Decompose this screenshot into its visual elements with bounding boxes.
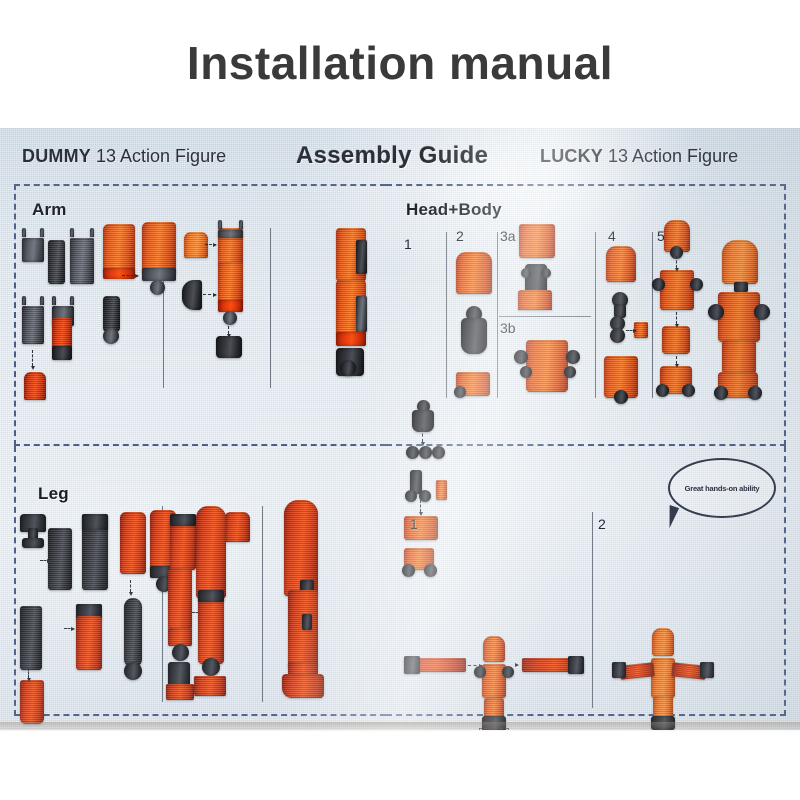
final-figure-shoulder-r	[502, 666, 514, 678]
head-step1-ball-h	[424, 564, 437, 577]
leg-col3-cap	[224, 512, 250, 542]
final-step-number-1: 1	[410, 516, 418, 532]
arm-arrow-right-1	[122, 275, 138, 276]
arm-final-hand-ball	[340, 360, 356, 376]
head-step3b-ball-b	[566, 350, 580, 364]
arm-assembly-fork	[218, 220, 243, 238]
leg-part-shin-gray-1	[20, 606, 42, 670]
head-divider-4	[652, 232, 653, 398]
leg-final-foot-2	[282, 674, 324, 698]
final2-hand-left	[612, 662, 626, 678]
head-step3a-ball-a	[521, 268, 531, 278]
head-final-waist	[722, 340, 756, 374]
section-title-head-body: Head+Body	[406, 200, 502, 220]
arm-arrow-down-1	[32, 350, 33, 366]
manual-header: DUMMY 13 Action Figure Assembly Guide LU…	[0, 142, 800, 176]
arm-assembly-ball	[223, 311, 237, 325]
header-center-title: Assembly Guide	[296, 142, 488, 170]
arm-part-upper-right-base	[142, 268, 176, 281]
leg-arrow-1	[40, 560, 50, 561]
leg-col3-shin	[168, 568, 192, 630]
header-right-title: LUCKY 13 Action Figure	[540, 146, 738, 167]
head-step2-ball-2	[454, 386, 466, 398]
head-step5-arrow-2	[676, 312, 677, 324]
leg-part-shin-red	[76, 616, 102, 670]
step-number-1: 1	[404, 236, 412, 252]
arm-part-fork-b	[70, 228, 94, 284]
section-title-leg: Leg	[38, 484, 69, 504]
head-final-ball-c	[714, 386, 728, 400]
arm-assembly-hand	[216, 336, 242, 358]
final-arm-left-hand	[404, 656, 420, 674]
arm-part-shoulder-cap	[184, 232, 208, 258]
leg-col2-shaft-ball	[124, 662, 142, 680]
arm-part-shaft-a	[48, 240, 65, 284]
arm-part-ball-joint-2	[103, 328, 119, 344]
arm-part-fork-c	[22, 296, 44, 344]
leg-part-thigh-top-2	[82, 514, 108, 530]
step-number-2: 2	[456, 228, 464, 244]
head-step5-ball-b	[652, 278, 665, 291]
head-step5-ball-e	[682, 384, 695, 397]
paper-bottom-edge	[0, 722, 800, 732]
head-step3b-ball-a	[514, 350, 528, 364]
leg-divider-2	[262, 506, 263, 702]
head-step4-ball-d	[614, 390, 628, 404]
leg-final-thigh-1	[196, 506, 226, 598]
head-step1-ball-b	[406, 446, 419, 459]
leg-part-thigh-gray-1	[48, 528, 72, 590]
screenshot-root: Installation manual DUMMY 13 Action Figu…	[0, 0, 800, 800]
head-step3b-ball-d	[564, 366, 576, 378]
head-step3b-ball-c	[520, 366, 532, 378]
manual-photo: DUMMY 13 Action Figure Assembly Guide LU…	[0, 128, 800, 730]
head-step1-arrow-2	[420, 500, 421, 512]
arm-divider-2	[270, 228, 271, 388]
head-final-neck	[734, 282, 748, 292]
head-divider-1	[446, 232, 447, 398]
head-step1-ball-c	[419, 446, 432, 459]
arm-assembly-lower	[218, 262, 243, 304]
arm-part-upper-left	[103, 224, 135, 274]
final-figure-head	[483, 636, 505, 662]
final2-torso	[651, 658, 675, 698]
leg-arrow-3	[28, 668, 29, 678]
arm-arrow-right-2	[205, 244, 216, 245]
final-figure-shoulder-l	[474, 666, 486, 678]
page-title: Installation manual	[0, 36, 800, 90]
leg-col2-shaft	[124, 598, 142, 668]
head-step5-arrow-3	[676, 356, 677, 364]
head-step3b-torso	[526, 340, 568, 392]
head-step5-arrow-1	[676, 256, 677, 268]
leg-part-foot-red	[20, 680, 44, 724]
head-divider-h	[499, 316, 591, 317]
arm-part-upper-left-base	[103, 268, 135, 279]
final-divider-1	[592, 512, 593, 708]
header-left-title: DUMMY 13 Action Figure	[22, 146, 226, 167]
step-number-3b: 3b	[500, 320, 516, 336]
head-final-ball-a	[708, 304, 724, 320]
arm-part-clip	[182, 280, 202, 310]
leg-col2-thigh-a	[120, 512, 146, 574]
arm-part-red-block	[52, 318, 72, 348]
head-step4-arrow	[626, 330, 636, 331]
arm-arrow-down-2	[228, 326, 229, 334]
head-step3a-chest	[519, 224, 555, 258]
header-left-brand: DUMMY	[22, 146, 91, 166]
arm-arrow-right-3	[203, 294, 216, 295]
head-step1-ball-d	[432, 446, 445, 459]
step-number-3a: 3a	[500, 228, 516, 244]
header-left-rest: 13 Action Figure	[91, 146, 226, 166]
leg-col3-knee-cap	[170, 514, 196, 526]
arm-part-gray-foot	[52, 346, 72, 360]
leg-part-hip-base	[22, 538, 44, 548]
leg-arrow-2	[64, 628, 74, 629]
head-step1-orange-bit	[436, 480, 447, 500]
step-number-4: 4	[608, 228, 616, 244]
arm-part-forearm-gray	[103, 296, 120, 332]
head-step1-ball-e	[405, 490, 417, 502]
arm-final-hinge-2	[356, 296, 367, 332]
arm-final-hinge	[356, 240, 367, 274]
callout-bubble: Great hands-on ability	[668, 458, 776, 518]
final-arm-right-hand	[568, 656, 584, 674]
callout-text: Great hands-on ability	[685, 484, 760, 493]
arm-part-fork-a	[22, 228, 44, 262]
arm-part-upper-right	[142, 222, 176, 274]
leg-final-knee-1	[198, 590, 224, 602]
header-right-brand: LUCKY	[540, 146, 603, 166]
leg-final-foot-1	[194, 676, 226, 696]
manual-sheet: DUMMY 13 Action Figure Assembly Guide LU…	[0, 128, 800, 730]
leg-col2-arrow	[130, 580, 131, 592]
head-step3a-skirt	[518, 290, 552, 310]
arm-part-red-cap	[24, 372, 46, 400]
head-final-head	[722, 240, 758, 284]
leg-col3-foot	[166, 684, 194, 700]
head-step5-ball-c	[690, 278, 703, 291]
head-step5-ball-d	[656, 384, 669, 397]
final2-head	[652, 628, 674, 656]
head-final-ball-b	[754, 304, 770, 320]
head-step4-head	[606, 246, 636, 282]
final-step-number-2: 2	[598, 516, 606, 532]
head-step5-waist	[662, 326, 690, 354]
header-right-rest: 13 Action Figure	[603, 146, 738, 166]
head-step4-ball-c	[610, 328, 625, 343]
final2-hand-right	[700, 662, 714, 678]
head-final-ball-d	[748, 386, 762, 400]
head-divider-3	[595, 232, 596, 398]
head-divider-2	[497, 232, 498, 398]
head-step1-arrow-1	[422, 428, 423, 442]
head-step1-neck	[412, 410, 434, 432]
arm-final-wrist	[336, 332, 366, 346]
head-step5-torso	[660, 270, 694, 310]
leg-final-shin-detail	[302, 614, 312, 630]
head-step2-frame	[461, 318, 487, 354]
arm-part-ball-joint-1	[150, 280, 165, 295]
head-step2-torso-shell	[456, 252, 492, 294]
head-final-torso	[718, 292, 760, 342]
leg-final-ankle-ball-1	[202, 658, 220, 676]
head-step3a-ball-b	[541, 268, 551, 278]
leg-col3-ball	[172, 644, 189, 661]
head-step1-ball-g	[402, 564, 415, 577]
section-title-arm: Arm	[32, 200, 67, 220]
